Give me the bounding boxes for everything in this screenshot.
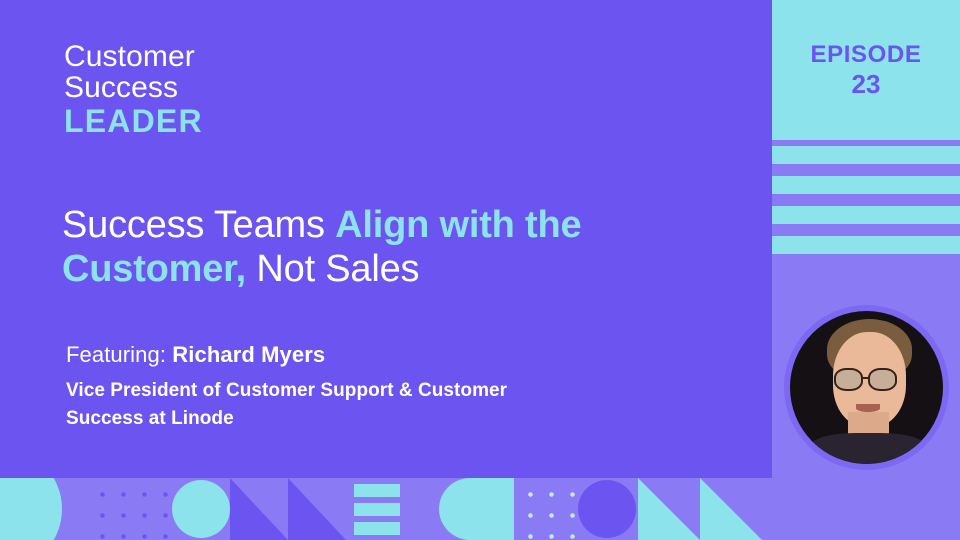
episode-title: Success Teams Align with the Customer, N…	[62, 203, 722, 291]
guest-role-line-1: Vice President of Customer Support & Cus…	[66, 377, 706, 406]
circle-shape	[578, 480, 636, 538]
triangle-shape	[288, 478, 346, 540]
guest-role-line-2: Success at Linode	[66, 405, 706, 434]
band-cell-circle	[172, 478, 230, 540]
band-cell-dots-light	[514, 478, 576, 540]
logo-line-1: Customer	[64, 42, 203, 73]
triangle-shape	[230, 478, 288, 540]
avatar-mouth	[856, 404, 880, 412]
guest-info: Featuring: Richard Myers Vice President …	[66, 341, 706, 434]
half-circle-shape	[0, 478, 62, 540]
circle-shape	[172, 480, 230, 538]
title-part-1: Success Teams	[62, 204, 335, 246]
guest-role: Vice President of Customer Support & Cus…	[66, 377, 706, 434]
triangle-shape	[700, 478, 762, 540]
band-cell-half-circle-right	[408, 478, 470, 540]
accent-stripe	[772, 236, 960, 254]
glasses-icon	[868, 368, 897, 391]
episode-label: EPISODE	[811, 41, 922, 69]
band-cell-dots	[86, 478, 172, 540]
half-circle-shape	[439, 478, 470, 540]
bars-shape	[346, 478, 408, 540]
logo-line-2: Success	[64, 73, 203, 104]
decorative-band	[0, 478, 960, 540]
accent-stripe	[772, 176, 960, 194]
avatar-photo	[790, 311, 943, 464]
dot-grid-shape	[514, 478, 576, 540]
guest-name: Richard Myers	[172, 342, 325, 367]
title-part-2: Not Sales	[246, 248, 419, 290]
band-cell-plain	[762, 478, 960, 540]
dot-grid-shape	[86, 478, 172, 540]
band-cell-solid-cyan	[470, 478, 514, 540]
band-cell-triangle-dark-2	[288, 478, 346, 540]
logo-line-3: LEADER	[64, 105, 203, 138]
accent-stripe	[772, 146, 960, 164]
solid-block-shape	[470, 478, 514, 540]
avatar	[784, 305, 949, 470]
triangle-shape	[638, 478, 700, 540]
episode-number: 23	[852, 71, 881, 98]
episode-badge: EPISODE 23	[772, 0, 960, 140]
glasses-icon	[834, 368, 863, 391]
brand-logo: Customer Success LEADER	[64, 42, 203, 138]
band-cell-circle-dark	[576, 478, 638, 540]
band-cell-triangle-cyan-1	[638, 478, 700, 540]
featuring-line: Featuring: Richard Myers	[66, 341, 706, 369]
band-cell-triangle-dark-1	[230, 478, 288, 540]
band-cell-triangle-cyan-2	[700, 478, 762, 540]
glasses-bridge	[863, 377, 869, 380]
accent-stripe	[772, 206, 960, 224]
band-cell-half-circle-left	[0, 478, 86, 540]
accent-stripes	[772, 146, 960, 296]
avatar-shirt	[811, 433, 924, 464]
podcast-episode-card: Customer Success LEADER EPISODE 23 Succe…	[0, 0, 960, 540]
featuring-label: Featuring:	[66, 342, 166, 367]
band-cell-bars	[346, 478, 408, 540]
